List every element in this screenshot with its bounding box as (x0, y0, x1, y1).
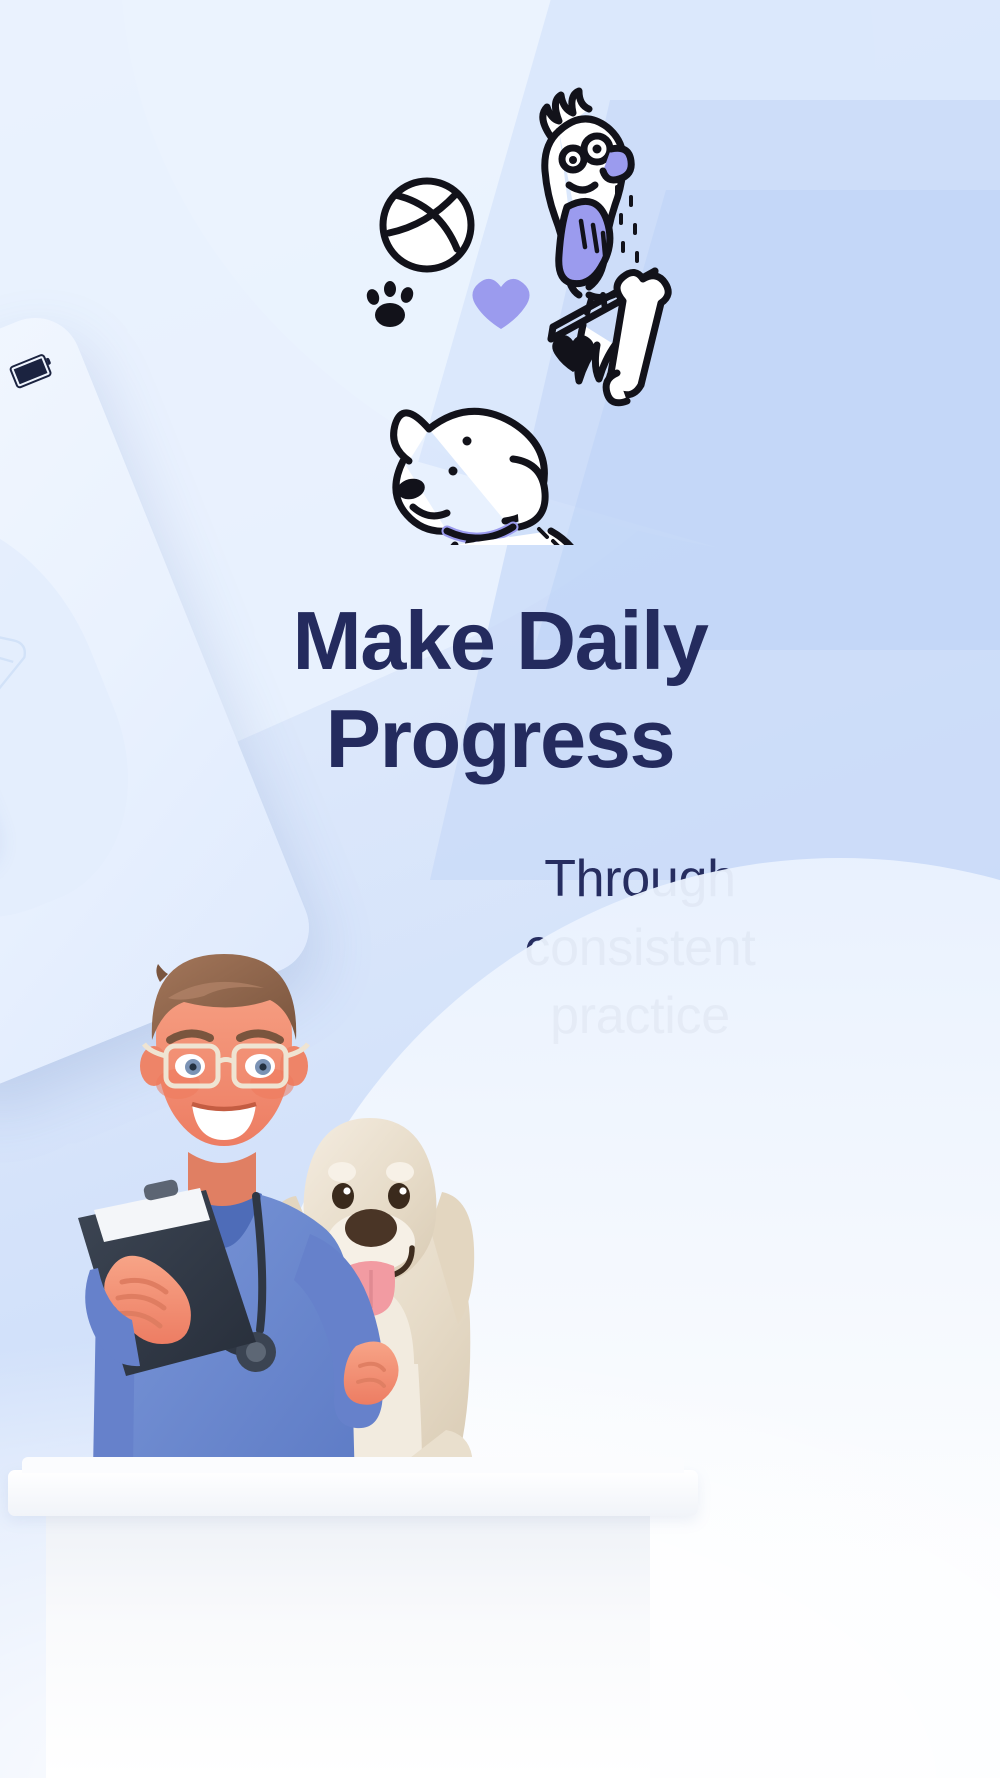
paw-print-icon (365, 281, 415, 327)
veterinarian-with-dog (60, 890, 620, 1530)
page-headline: Make Daily Progress (0, 592, 1000, 788)
phone-status-bar (0, 336, 86, 514)
dog-line-art-icon (394, 411, 622, 545)
bone-icon (606, 272, 668, 402)
battery-icon (8, 353, 52, 389)
play-ball-icon (383, 181, 471, 269)
exam-table-body (46, 1512, 650, 1778)
headline-line-2: Progress (0, 690, 1000, 788)
line-art-scene (355, 75, 715, 545)
headline-line-1: Make Daily (0, 592, 1000, 690)
exam-table-top (8, 1470, 698, 1516)
purple-heart-icon (472, 279, 529, 329)
exam-table (0, 1448, 720, 1778)
wifi-icon (0, 374, 8, 398)
onboarding-screen: Days Streak WED 20 (0, 0, 1000, 1778)
